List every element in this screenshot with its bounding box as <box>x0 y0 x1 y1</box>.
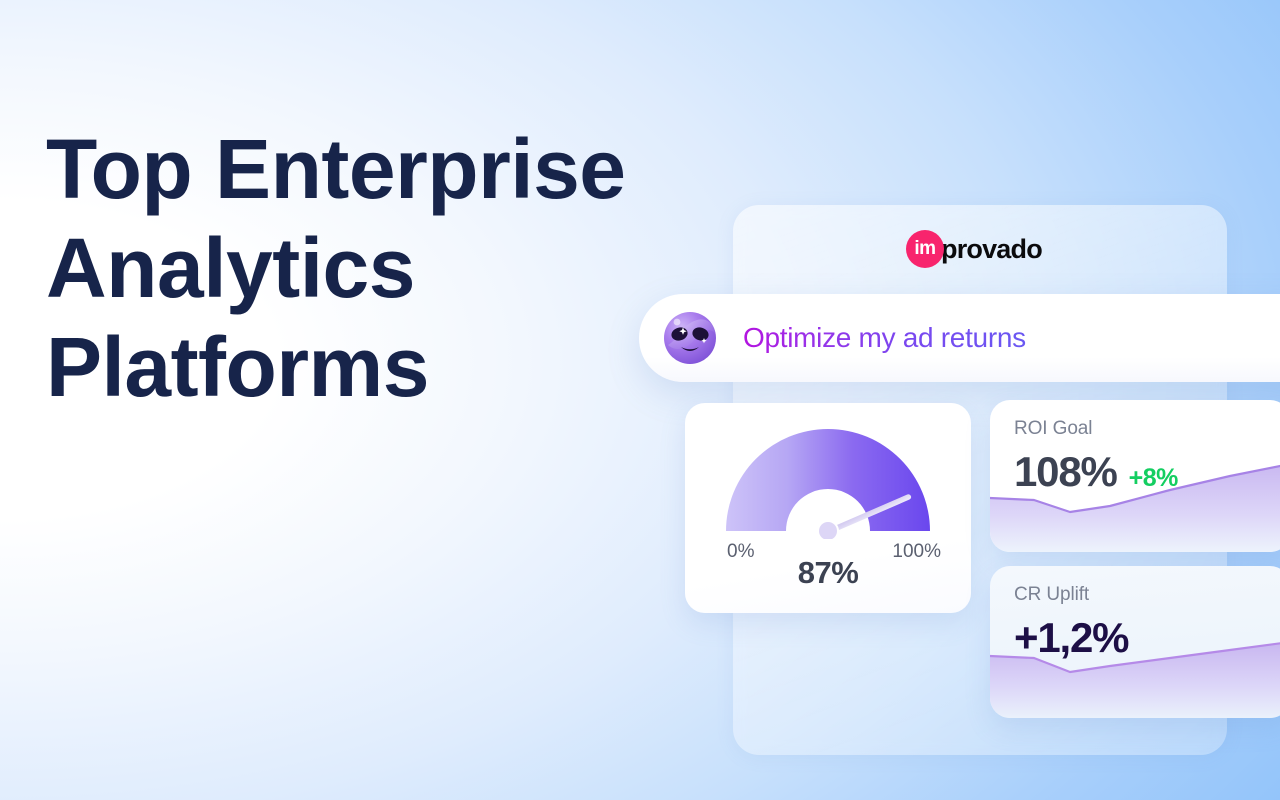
kpi-value-roi: 108% <box>1014 448 1117 496</box>
kpi-card-roi-goal[interactable]: ROI Goal 108% +8% <box>990 400 1280 552</box>
kpi-values-roi: 108% +8% <box>1014 448 1178 496</box>
kpi-card-cr-uplift[interactable]: CR Uplift +1,2% <box>990 566 1280 718</box>
logo-mark-icon: im <box>906 230 944 268</box>
headline-line-1: Top Enterprise <box>46 120 746 219</box>
headline-line-2: Analytics <box>46 219 746 318</box>
kpi-values-cr: +1,2% <box>1014 614 1140 662</box>
kpi-delta-roi: +8% <box>1129 464 1178 493</box>
prompt-text: Optimize my ad returns <box>743 322 1026 354</box>
gauge-card[interactable]: 0% 100% 87% <box>685 403 971 613</box>
ai-prompt-bar[interactable]: Optimize my ad returns <box>639 294 1280 382</box>
alien-emoji-icon <box>663 311 717 365</box>
gauge-chart <box>718 421 938 544</box>
kpi-label-roi: ROI Goal <box>1014 418 1092 440</box>
logo-wordmark: provado <box>941 234 1042 265</box>
page-title: Top Enterprise Analytics Platforms <box>46 120 746 417</box>
gauge-value-label: 87% <box>685 555 971 591</box>
improvado-logo: im provado <box>906 230 1042 268</box>
kpi-label-cr: CR Uplift <box>1014 584 1089 606</box>
kpi-value-cr: +1,2% <box>1014 614 1128 662</box>
